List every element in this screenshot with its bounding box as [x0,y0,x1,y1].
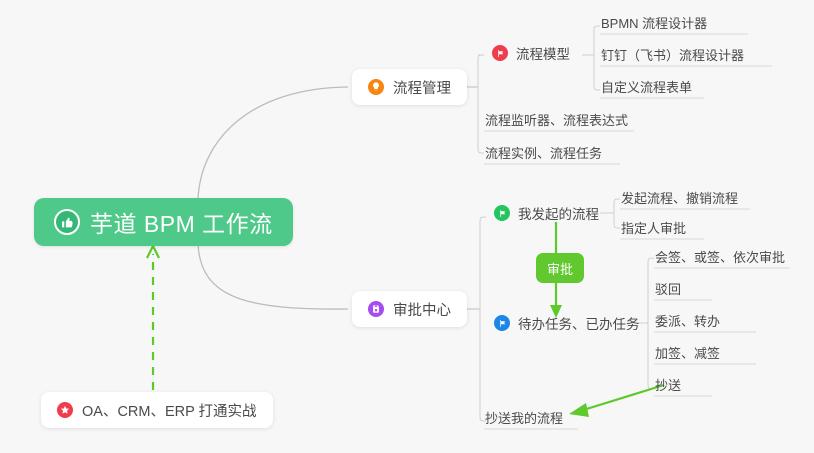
callout-integration[interactable]: OA、CRM、ERP 打通实战 [41,392,273,428]
leaf-countersign[interactable]: 会签、或签、依次审批 [655,245,785,269]
leaf-reject-label: 驳回 [655,279,681,298]
clipboard-icon [368,301,384,317]
leaf-dingtalk-designer[interactable]: 钉钉（飞书）流程设计器 [601,43,744,67]
branch-process-management[interactable]: 流程管理 [352,69,467,105]
node-my-started-processes[interactable]: 我发起的流程 [494,201,599,225]
branch-process-management-label: 流程管理 [393,77,451,98]
arrow-cc-flow [580,385,664,411]
leaf-countersign-label: 会签、或签、依次审批 [655,247,785,266]
lightbulb-icon [368,79,384,95]
leaf-start-cancel-process-label: 发起流程、撤销流程 [621,188,738,207]
branch-approval-center-label: 审批中心 [393,299,451,320]
link-root-to-approval-center [198,243,348,309]
leaf-cc-my-process[interactable]: 抄送我的流程 [485,406,563,430]
leaf-process-instance-label: 流程实例、流程任务 [485,143,602,162]
leaf-assignee-approval[interactable]: 指定人审批 [621,216,686,240]
flag-green-icon [494,205,510,221]
leaf-delegate-transfer[interactable]: 委派、转办 [655,309,720,333]
leaf-custom-form-label: 自定义流程表单 [601,77,692,96]
root-node[interactable]: 芋道 BPM 工作流 [34,198,293,246]
leaf-process-listener[interactable]: 流程监听器、流程表达式 [485,108,628,132]
tag-approval-label: 审批 [547,259,573,278]
flag-red-icon [492,45,508,61]
arrow-callout-head [147,246,159,258]
leaf-cc-my-process-label: 抄送我的流程 [485,408,563,427]
branch-approval-center[interactable]: 审批中心 [352,291,467,327]
leaf-cc[interactable]: 抄送 [655,373,681,397]
bracket-process-management [478,55,484,153]
leaf-start-cancel-process[interactable]: 发起流程、撤销流程 [621,186,738,210]
leaf-bpmn-designer-label: BPMN 流程设计器 [601,13,707,32]
leaf-add-remove-sign-label: 加签、减签 [655,343,720,362]
leaf-dingtalk-designer-label: 钉钉（飞书）流程设计器 [601,45,744,64]
leaf-add-remove-sign[interactable]: 加签、减签 [655,341,720,365]
leaf-bpmn-designer[interactable]: BPMN 流程设计器 [601,11,707,35]
node-todo-done-tasks-label: 待办任务、已办任务 [518,313,640,333]
mindmap-canvas: 芋道 BPM 工作流 流程管理 流程模型 BPMN 流程设计器 钉钉（飞书）流程… [0,0,814,453]
leaf-delegate-transfer-label: 委派、转办 [655,311,720,330]
tag-approval[interactable]: 审批 [536,253,584,283]
leaf-process-listener-label: 流程监听器、流程表达式 [485,110,628,129]
flag-blue-icon [494,315,510,331]
leaf-custom-form[interactable]: 自定义流程表单 [601,75,692,99]
node-my-started-processes-label: 我发起的流程 [518,203,599,223]
leaf-cc-label: 抄送 [655,375,681,394]
bracket-approval-center [480,217,486,421]
bracket-process-model [594,26,600,90]
leaf-process-instance[interactable]: 流程实例、流程任务 [485,141,602,165]
root-label: 芋道 BPM 工作流 [90,205,273,239]
bracket-my-started [614,199,620,228]
callout-integration-label: OA、CRM、ERP 打通实战 [82,400,257,421]
link-root-to-process-management [198,87,348,200]
leaf-assignee-approval-label: 指定人审批 [621,218,686,237]
node-process-model[interactable]: 流程模型 [492,41,570,65]
arrow-cc-flow-head [569,403,589,417]
node-process-model-label: 流程模型 [516,43,570,63]
leaf-reject[interactable]: 驳回 [655,277,681,301]
node-todo-done-tasks[interactable]: 待办任务、已办任务 [494,311,640,335]
thumbs-up-icon [54,209,80,235]
star-red-icon [57,402,73,418]
bracket-todo-tasks [648,258,654,389]
